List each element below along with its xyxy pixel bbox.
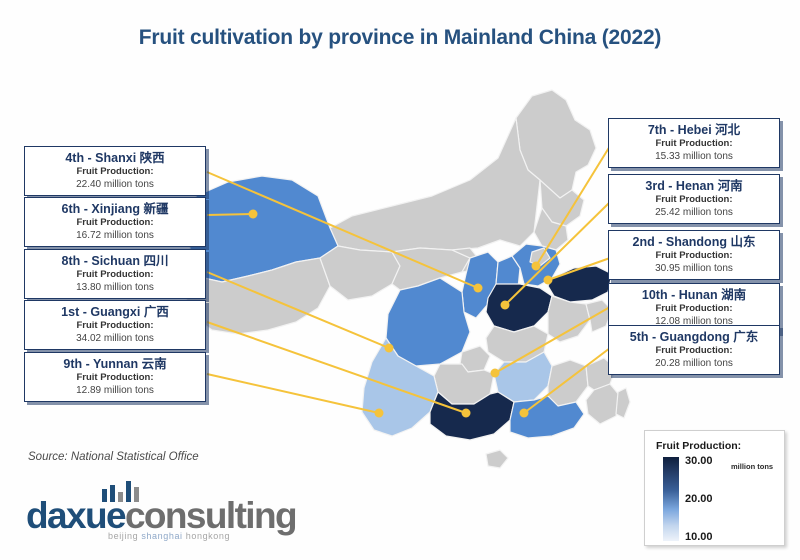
province-guangdong xyxy=(510,396,584,438)
legend-tick-min: 10.00 xyxy=(685,531,713,543)
callout-rank: 5th - Guangdong 广东 xyxy=(615,330,773,344)
callout-value: 25.42 million tons xyxy=(615,207,773,218)
logo-tagline-shanghai: shanghai xyxy=(141,531,185,541)
callout-rank: 1st - Guangxi 广西 xyxy=(31,305,199,319)
callout-shandong[interactable]: 2nd - Shandong 山东 Fruit Production: 30.9… xyxy=(608,230,780,280)
callout-value: 15.33 million tons xyxy=(615,151,773,162)
daxue-consulting-logo[interactable]: daxueconsulting beijing shanghai hongkon… xyxy=(26,481,286,543)
callout-rank: 7th - Hebei 河北 xyxy=(615,123,773,137)
province-shandong xyxy=(548,266,612,302)
logo-tagline: beijing shanghai hongkong xyxy=(108,531,230,541)
callout-value: 13.80 million tons xyxy=(31,282,199,293)
callout-value: 20.28 million tons xyxy=(615,358,773,369)
logo-word-consulting: consulting xyxy=(125,495,296,536)
callout-label: Fruit Production: xyxy=(615,139,773,150)
callout-rank: 6th - Xinjiang 新疆 xyxy=(31,202,199,216)
callout-yunnan[interactable]: 9th - Yunnan 云南 Fruit Production: 12.89 … xyxy=(24,352,206,402)
leader-line-xinjiang xyxy=(207,214,253,215)
province-sichuan xyxy=(386,278,470,366)
callout-label: Fruit Production: xyxy=(31,218,199,229)
callout-label: Fruit Production: xyxy=(31,373,199,384)
callout-rank: 3rd - Henan 河南 xyxy=(615,179,773,193)
map-base-provinces xyxy=(184,90,630,468)
callout-label: Fruit Production: xyxy=(615,195,773,206)
callout-rank: 10th - Hunan 湖南 xyxy=(615,288,773,302)
map-legend: Fruit Production: 30.00 20.00 10.00 mill… xyxy=(644,430,785,546)
legend-title: Fruit Production: xyxy=(656,440,741,452)
callout-guangdong[interactable]: 5th - Guangdong 广东 Fruit Production: 20.… xyxy=(608,325,780,375)
legend-gradient-bar xyxy=(663,457,679,541)
legend-tick-max: 30.00 xyxy=(685,455,713,467)
leader-line-yunnan xyxy=(207,374,379,413)
callout-value: 30.95 million tons xyxy=(615,263,773,274)
legend-unit-label: million tons xyxy=(731,462,773,471)
callout-rank: 2nd - Shandong 山东 xyxy=(615,235,773,249)
callout-label: Fruit Production: xyxy=(615,346,773,357)
callout-value: 22.40 million tons xyxy=(31,179,199,190)
callout-label: Fruit Production: xyxy=(615,304,773,315)
logo-word-daxue: daxue xyxy=(26,495,125,536)
logo-tagline-hongkong: hongkong xyxy=(186,531,230,541)
callout-value: 12.89 million tons xyxy=(31,385,199,396)
callout-value: 16.72 million tons xyxy=(31,230,199,241)
callout-rank: 8th - Sichuan 四川 xyxy=(31,254,199,268)
callout-sichuan[interactable]: 8th - Sichuan 四川 Fruit Production: 13.80… xyxy=(24,249,206,299)
source-note: Source: National Statistical Office xyxy=(28,451,199,463)
callout-rank: 9th - Yunnan 云南 xyxy=(31,357,199,371)
callout-rank: 4th - Shanxi 陕西 xyxy=(31,151,199,165)
callout-value: 34.02 million tons xyxy=(31,333,199,344)
legend-tick-mid: 20.00 xyxy=(685,493,713,505)
logo-tagline-beijing: beijing xyxy=(108,531,141,541)
callout-label: Fruit Production: xyxy=(31,167,199,178)
callout-label: Fruit Production: xyxy=(615,251,773,262)
callout-guangxi[interactable]: 1st - Guangxi 广西 Fruit Production: 34.02… xyxy=(24,300,206,350)
callout-label: Fruit Production: xyxy=(31,270,199,281)
callout-shanxi[interactable]: 4th - Shanxi 陕西 Fruit Production: 22.40 … xyxy=(24,146,206,196)
callout-hebei[interactable]: 7th - Hebei 河北 Fruit Production: 15.33 m… xyxy=(608,118,780,168)
callout-xinjiang[interactable]: 6th - Xinjiang 新疆 Fruit Production: 16.7… xyxy=(24,197,206,247)
callout-label: Fruit Production: xyxy=(31,321,199,332)
infographic-canvas: Fruit cultivation by province in Mainlan… xyxy=(0,0,800,560)
callout-henan[interactable]: 3rd - Henan 河南 Fruit Production: 25.42 m… xyxy=(608,174,780,224)
